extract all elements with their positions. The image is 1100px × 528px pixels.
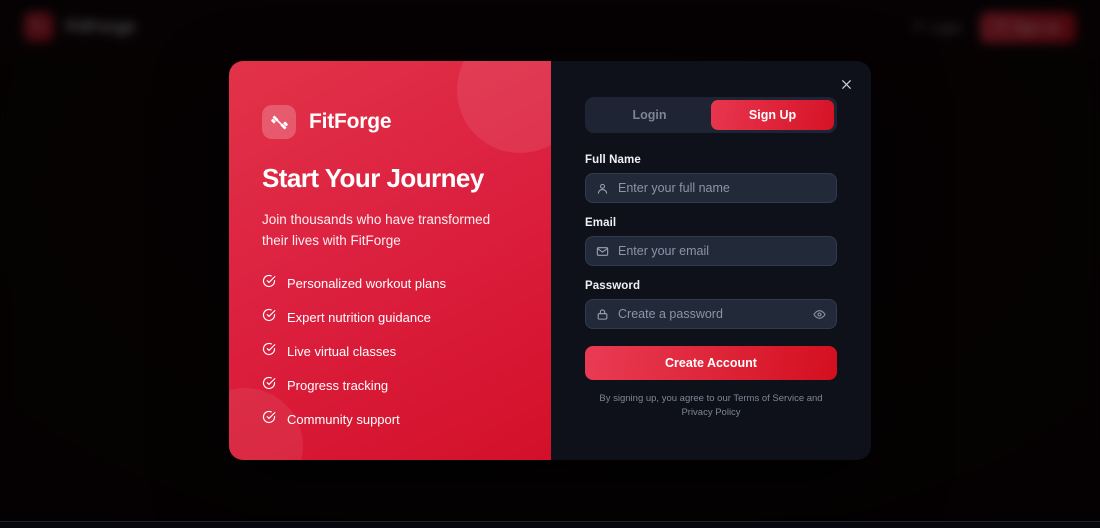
feature-list: Personalized workout plans Expert nutrit… <box>262 274 518 429</box>
list-item: Expert nutrition guidance <box>262 308 518 327</box>
list-item: Live virtual classes <box>262 342 518 361</box>
promo-brand: FitForge <box>262 105 518 139</box>
promo-brand-label: FitForge <box>309 110 391 134</box>
promo-panel: FitForge Start Your Journey Join thousan… <box>229 61 551 460</box>
tab-login[interactable]: Login <box>588 100 711 130</box>
eye-icon[interactable] <box>813 308 826 321</box>
check-circle-icon <box>262 376 276 395</box>
feature-label: Live virtual classes <box>287 345 396 358</box>
promo-subtitle: Join thousands who have transformed thei… <box>262 210 514 252</box>
full-name-input[interactable] <box>618 174 826 202</box>
user-icon <box>596 182 609 195</box>
email-label: Email <box>585 217 837 229</box>
feature-label: Expert nutrition guidance <box>287 311 431 324</box>
feature-label: Personalized workout plans <box>287 277 446 290</box>
password-input[interactable] <box>618 300 807 328</box>
bottom-bar <box>0 521 1100 528</box>
email-input[interactable] <box>618 237 826 265</box>
terms-text: By signing up, you agree to our Terms of… <box>585 392 837 421</box>
list-item: Personalized workout plans <box>262 274 518 293</box>
close-icon[interactable] <box>835 73 857 95</box>
page-title: Start Your Journey <box>262 164 518 194</box>
full-name-field-group: Full Name <box>585 154 837 203</box>
check-circle-icon <box>262 342 276 361</box>
create-account-button[interactable]: Create Account <box>585 346 837 380</box>
auth-tab-group: Login Sign Up <box>585 97 837 133</box>
list-item: Community support <box>262 410 518 429</box>
check-circle-icon <box>262 308 276 327</box>
check-circle-icon <box>262 274 276 293</box>
feature-label: Progress tracking <box>287 379 388 392</box>
email-field-group: Email <box>585 217 837 266</box>
dumbbell-icon <box>262 105 296 139</box>
feature-label: Community support <box>287 413 400 426</box>
mail-icon <box>596 245 609 258</box>
lock-icon <box>596 308 609 321</box>
password-input-wrapper[interactable] <box>585 299 837 329</box>
check-circle-icon <box>262 410 276 429</box>
password-label: Password <box>585 280 837 292</box>
auth-modal: FitForge Start Your Journey Join thousan… <box>229 61 871 460</box>
email-input-wrapper[interactable] <box>585 236 837 266</box>
full-name-input-wrapper[interactable] <box>585 173 837 203</box>
auth-form-panel: Login Sign Up Full Name Email <box>551 61 871 460</box>
password-field-group: Password <box>585 280 837 329</box>
full-name-label: Full Name <box>585 154 837 166</box>
tab-signup[interactable]: Sign Up <box>711 100 834 130</box>
list-item: Progress tracking <box>262 376 518 395</box>
